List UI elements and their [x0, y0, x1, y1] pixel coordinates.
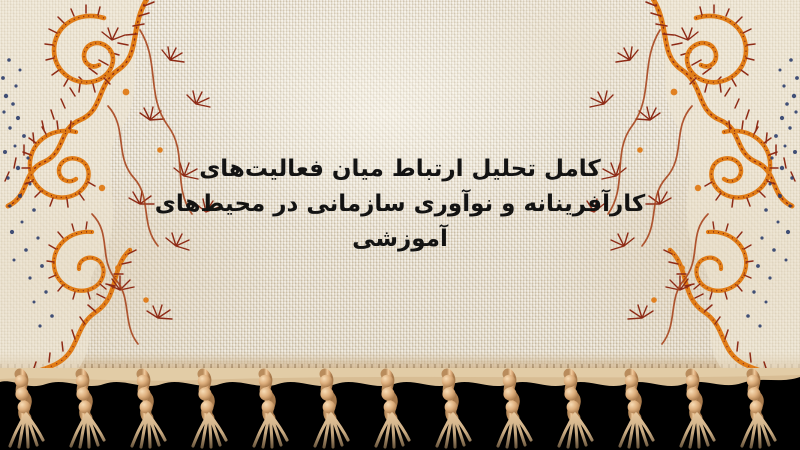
- slide-canvas: کامل تحلیل ارتباط میان فعالیت‌های کارآفر…: [0, 0, 800, 450]
- tassel-fringe: [0, 368, 800, 450]
- title-line-3: آموزشی: [140, 222, 660, 257]
- title-line-2: کارآفرینانه و نوآوری سازمانی در محیط‌های: [140, 187, 660, 222]
- title-line-1: کامل تحلیل ارتباط میان فعالیت‌های: [140, 152, 660, 187]
- slide-title: کامل تحلیل ارتباط میان فعالیت‌های کارآفر…: [140, 152, 660, 257]
